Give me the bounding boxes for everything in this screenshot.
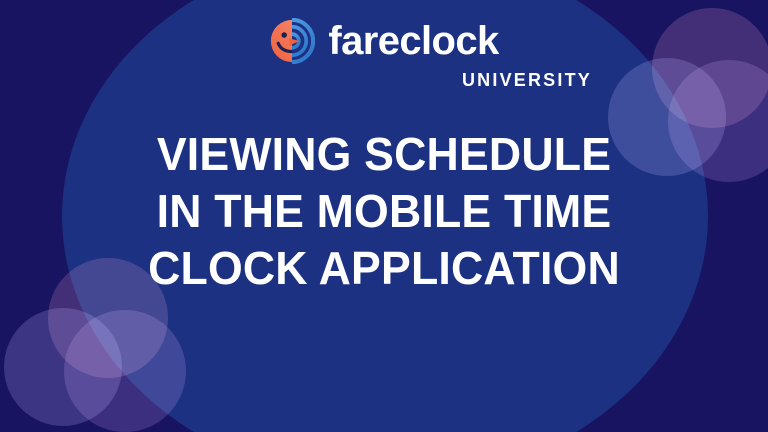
brand-wordmark: fareclock	[328, 21, 498, 61]
title-slide: fareclock UNIVERSITY VIEWING SCHEDULE IN…	[0, 0, 768, 432]
slide-title-line-2: IN THE MOBILE TIME	[12, 183, 757, 240]
slide-title-line-3: CLOCK APPLICATION	[12, 240, 757, 297]
slide-title-line-1: VIEWING SCHEDULE	[12, 126, 757, 183]
fareclock-logo-mark	[269, 18, 315, 64]
brand-sub-wordmark: UNIVERSITY	[462, 71, 768, 89]
slide-title: VIEWING SCHEDULE IN THE MOBILE TIME CLOC…	[12, 126, 757, 297]
brand-lockup: fareclock UNIVERSITY	[0, 18, 768, 89]
bokeh-circle	[64, 310, 186, 432]
brand-logo-row: fareclock	[269, 18, 498, 64]
brand-sub-wordmark-text: UNIVERSITY	[462, 71, 592, 89]
